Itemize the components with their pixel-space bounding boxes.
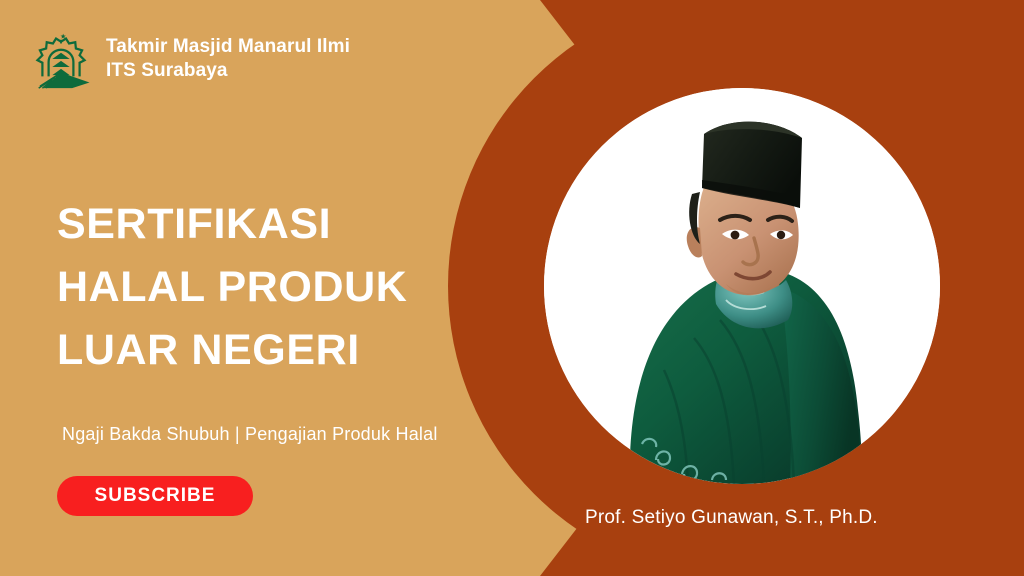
portrait-circle bbox=[544, 88, 940, 484]
brand-lockup: Takmir Masjid Manarul Ilmi ITS Surabaya bbox=[30, 28, 350, 90]
headline-line-1: SERTIFIKASI bbox=[57, 193, 527, 256]
brand-line-2: ITS Surabaya bbox=[106, 59, 350, 83]
poster-canvas: Takmir Masjid Manarul Ilmi ITS Surabaya … bbox=[0, 0, 1024, 576]
headline-line-2: HALAL PRODUK bbox=[57, 256, 527, 319]
portrait-clip bbox=[544, 88, 940, 484]
mosque-gear-logo-icon bbox=[30, 28, 92, 90]
headline-block: SERTIFIKASI HALAL PRODUK LUAR NEGERI bbox=[57, 193, 527, 383]
speaker-portrait bbox=[544, 88, 940, 484]
brand-text: Takmir Masjid Manarul Ilmi ITS Surabaya bbox=[106, 35, 350, 83]
subtitle-text: Ngaji Bakda Shubuh | Pengajian Produk Ha… bbox=[62, 424, 438, 445]
speaker-name-caption: Prof. Setiyo Gunawan, S.T., Ph.D. bbox=[585, 507, 878, 529]
subscribe-button[interactable]: SUBSCRIBE bbox=[57, 476, 253, 516]
brand-line-1: Takmir Masjid Manarul Ilmi bbox=[106, 35, 350, 59]
headline-line-3: LUAR NEGERI bbox=[57, 319, 527, 382]
